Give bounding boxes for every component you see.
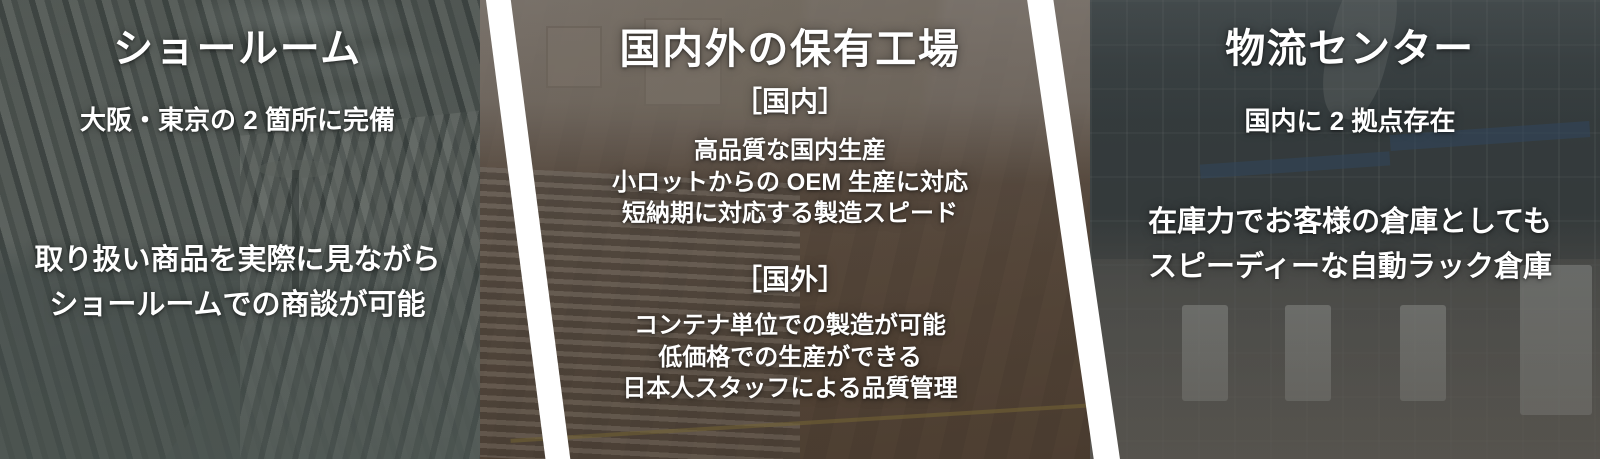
showroom-text-column: ショールーム 大阪・東京の 2 箇所に完備 取り扱い商品を実際に見ながら ショー… [0,0,475,459]
factory-domestic-line-1: 高品質な国内生産 [545,135,1035,167]
logistics-text-column: 物流センター 国内に 2 拠点存在 在庫力でお客様の倉庫としても スピーディーな… [1110,0,1590,459]
logistics-body-line-2: スピーディーな自動ラック倉庫 [1110,245,1590,290]
factory-overseas-line-2: 低価格での生産ができる [545,342,1035,374]
factory-overseas-lines: コンテナ単位での製造が可能 低価格での生産ができる 日本人スタッフによる品質管理 [545,310,1035,405]
factory-domestic-line-3: 短納期に対応する製造スピード [545,198,1035,230]
showroom-subtitle: 大阪・東京の 2 箇所に完備 [0,103,475,138]
logistics-title: 物流センター [1110,26,1590,72]
factory-domestic-heading: ［国内］ [545,84,1035,120]
factory-domestic-lines: 高品質な国内生産 小ロットからの OEM 生産に対応 短納期に対応する製造スピー… [545,135,1035,230]
showroom-title: ショールーム [0,26,475,72]
banner-text-layer: ショールーム 大阪・東京の 2 箇所に完備 取り扱い商品を実際に見ながら ショー… [0,0,1600,459]
logistics-subtitle: 国内に 2 拠点存在 [1110,104,1590,139]
showroom-body: 取り扱い商品を実際に見ながら ショールームでの商談が可能 [0,238,475,328]
factory-overseas-line-1: コンテナ単位での製造が可能 [545,310,1035,342]
factory-domestic-line-2: 小ロットからの OEM 生産に対応 [545,167,1035,199]
logistics-body: 在庫力でお客様の倉庫としても スピーディーな自動ラック倉庫 [1110,200,1590,290]
three-panel-facility-banner: ショールーム 大阪・東京の 2 箇所に完備 取り扱い商品を実際に見ながら ショー… [0,0,1600,459]
logistics-body-line-1: 在庫力でお客様の倉庫としても [1110,200,1590,245]
factory-text-column: 国内外の保有工場 ［国内］ 高品質な国内生産 小ロットからの OEM 生産に対応… [545,0,1035,459]
showroom-body-line-2: ショールームでの商談が可能 [0,283,475,328]
factory-title: 国内外の保有工場 [545,26,1035,73]
showroom-body-line-1: 取り扱い商品を実際に見ながら [0,238,475,283]
factory-overseas-line-3: 日本人スタッフによる品質管理 [545,373,1035,405]
factory-overseas-heading: ［国外］ [545,262,1035,298]
